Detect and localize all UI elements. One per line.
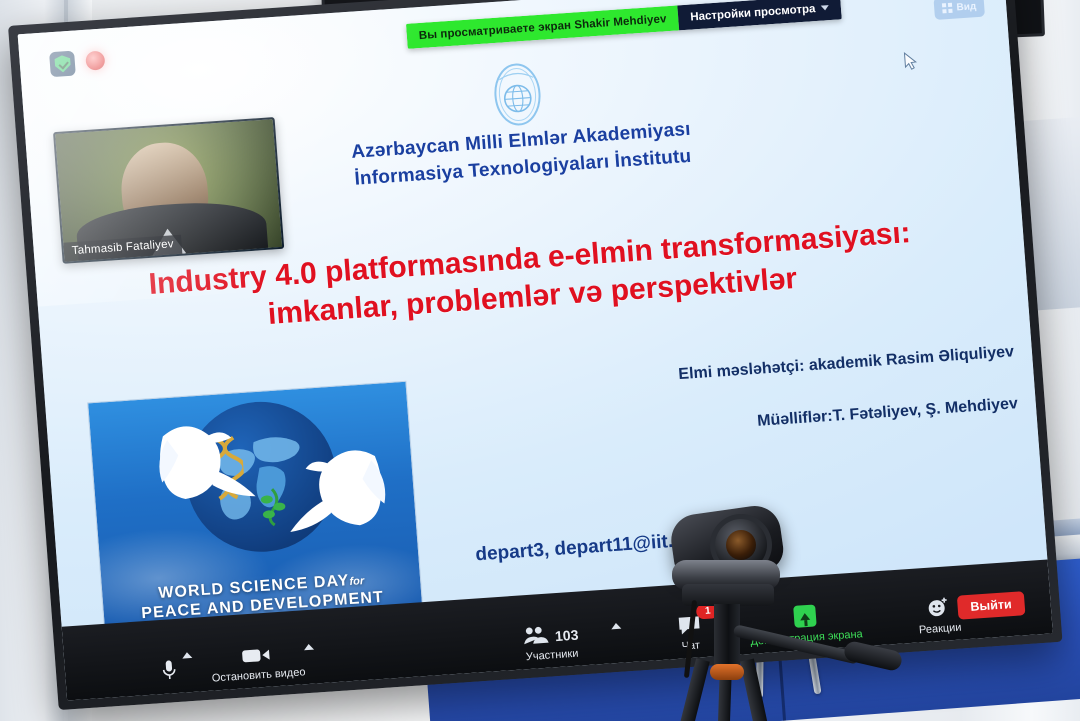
tripod-lock-knob [710, 664, 744, 680]
poster-for-text: for [349, 575, 365, 588]
record-indicator-icon[interactable] [85, 51, 105, 71]
dove-left-icon [145, 409, 273, 527]
toolbar-mic-button[interactable] [122, 653, 216, 690]
view-settings-button[interactable]: Настройки просмотра [677, 0, 842, 30]
screen-share-banner: Вы просматриваете экран Shakir Mehdiyev … [406, 0, 842, 49]
people-icon: 103 [495, 615, 607, 648]
camera-icon [209, 635, 303, 667]
authors: Müəlliflər:T. Fətəliyev, Ş. Mehdiyev [682, 395, 1019, 436]
shield-check-icon [54, 55, 71, 73]
tripod-leg [677, 658, 710, 721]
toolbar-video-label: Остановить видео [211, 666, 304, 684]
toolbar-video-button[interactable]: Остановить видео [209, 635, 304, 684]
grid-icon [942, 3, 953, 14]
slide-credits: Elmi məsləhətçi: akademik Rasim Əliquliy… [678, 343, 1019, 436]
camera-lens [726, 530, 756, 560]
dove-right-icon [270, 436, 408, 555]
view-button-label: Вид [956, 1, 976, 13]
encryption-shield-icon[interactable] [49, 51, 76, 78]
toolbar-participants-button[interactable]: 103 Участники [495, 615, 608, 665]
chevron-down-icon [821, 5, 829, 11]
tripod-pan-grip [842, 640, 903, 673]
toolbar-mic-label [125, 684, 217, 690]
organization-name: Azərbaycan Milli Elmlər Akademiyası İnfo… [351, 119, 694, 191]
participants-options-chevron-icon[interactable] [611, 623, 621, 630]
microphone-icon [122, 653, 216, 685]
tripod-leg [740, 659, 770, 721]
anas-emblem-icon [486, 61, 549, 134]
scientific-advisor: Elmi məsləhətçi: akademik Rasim Əliquliy… [678, 343, 1015, 384]
ptz-camera [648, 496, 978, 721]
mic-options-chevron-icon[interactable] [182, 652, 192, 659]
video-options-chevron-icon[interactable] [304, 644, 314, 651]
participants-count: 103 [554, 627, 578, 645]
view-layout-button[interactable]: Вид [934, 0, 985, 20]
toolbar-participants-label: Участники [497, 646, 608, 665]
view-settings-label: Настройки просмотра [690, 3, 816, 23]
meeting-room-photo: Azərbaycan Milli Elmlər Akademiyası İnfo… [0, 0, 1080, 721]
world-science-day-poster: WORLD SCIENCE DAYfor PEACE AND DEVELOPME… [87, 381, 424, 640]
mouse-pointer-icon [903, 51, 918, 76]
participant-video-thumbnail[interactable]: Tahmasib Fataliyev [53, 117, 284, 264]
share-banner-text: Вы просматриваете экран Shakir Mehdiyev [406, 5, 679, 48]
